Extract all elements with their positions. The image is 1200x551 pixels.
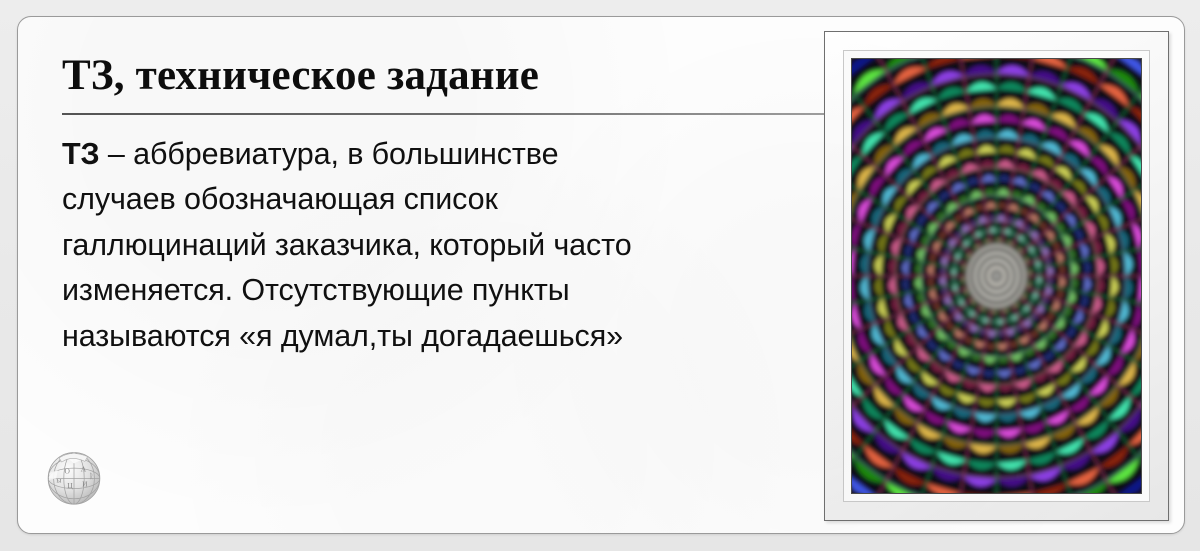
svg-text:ы: ы [56,475,61,484]
body-line-1: ТЗ – аббревиатура, в большинстве [62,132,832,178]
svg-text:Ц: Ц [67,481,73,490]
picture-frame [824,31,1169,521]
picture-mat [843,50,1150,502]
definition-body-text: ТЗ – аббревиатура, в большинстве случаев… [62,132,832,360]
svg-text:О: О [64,467,70,476]
page-title: ТЗ, техническое задание [62,53,832,99]
svg-text:Λ: Λ [81,465,87,474]
radial-optical-illusion-image [851,58,1142,494]
svg-text:И: И [82,480,88,489]
wikipedia-globe-icon: О Λ Ц И ы ᚱ [40,443,108,511]
abbreviation-term: ТЗ [62,137,100,171]
body-line-3: галлюцинаций заказчика, который часто [62,223,832,269]
svg-text:ᚱ: ᚱ [89,471,93,480]
title-divider [62,113,830,115]
text-column: ТЗ, техническое задание ТЗ – аббревиатур… [62,53,832,359]
slide-card: ТЗ, техническое задание ТЗ – аббревиатур… [17,16,1185,534]
body-line-4: изменяется. Отсутствующие пункты [62,268,832,314]
body-line-1-rest: – аббревиатура, в большинстве [100,137,559,171]
body-line-2: случаев обозначающая список [62,177,832,223]
body-line-5: называются «я думал,ты догадаешься» [62,314,832,360]
